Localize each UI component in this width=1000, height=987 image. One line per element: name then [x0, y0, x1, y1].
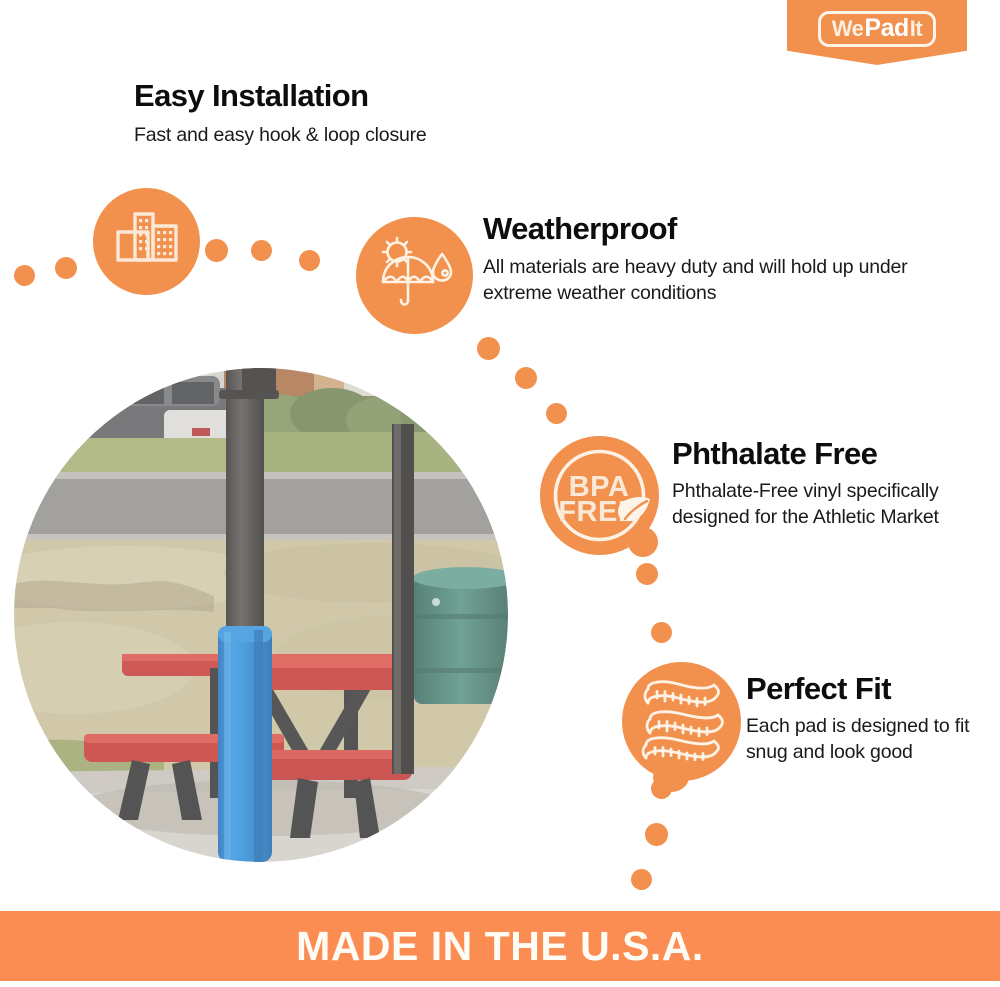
feature-title: Perfect Fit [746, 672, 986, 705]
feature-block-phthalate-free: Phthalate Free Phthalate-Free vinyl spec… [672, 437, 972, 531]
icon-nub [628, 527, 658, 557]
path-dot [299, 250, 320, 271]
feature-title: Phthalate Free [672, 437, 972, 470]
path-dot [515, 367, 537, 389]
path-dot [636, 563, 658, 585]
brand-logo-frame: We Pad It [818, 11, 936, 47]
feature-description: Fast and easy hook & loop closure [134, 123, 564, 149]
feature-description: All materials are heavy duty and will ho… [483, 255, 913, 306]
banner-text: MADE IN THE U.S.A. [296, 926, 704, 967]
path-dot [651, 622, 672, 643]
feature-title: Weatherproof [483, 212, 913, 245]
path-dot [55, 257, 77, 279]
building-icon [112, 208, 182, 275]
feature-title: Easy Installation [134, 79, 564, 112]
path-dot [546, 403, 567, 424]
icon-nub [653, 762, 689, 792]
feature-block-easy-installation: Easy Installation Fast and easy hook & l… [134, 79, 564, 149]
feature-description: Each pad is designed to fit snug and loo… [746, 714, 986, 765]
feature-description: Phthalate-Free vinyl specifically design… [672, 479, 972, 530]
icon-circle-easy-installation [93, 188, 200, 295]
made-in-usa-banner: MADE IN THE U.S.A. [0, 911, 1000, 981]
path-dot [631, 869, 652, 890]
infographic-canvas: We Pad It [0, 0, 1000, 987]
brand-logo-we: We [832, 18, 864, 40]
brand-logo-badge: We Pad It [787, 0, 967, 65]
icon-circle-perfect-fit [622, 662, 741, 781]
feature-block-weatherproof: Weatherproof All materials are heavy dut… [483, 212, 913, 307]
product-photo [14, 368, 508, 862]
umbrella-sun-rain-icon [375, 236, 455, 315]
measuring-tape-icon [638, 677, 726, 766]
path-dot [205, 239, 228, 262]
brand-logo-it: It [910, 18, 922, 40]
path-dot [477, 337, 500, 360]
path-dot [14, 265, 35, 286]
brand-logo-pad: Pad [863, 16, 909, 41]
path-dot [251, 240, 272, 261]
feature-block-perfect-fit: Perfect Fit Each pad is designed to fit … [746, 672, 986, 766]
path-dot [645, 823, 668, 846]
icon-circle-weatherproof [356, 217, 473, 334]
